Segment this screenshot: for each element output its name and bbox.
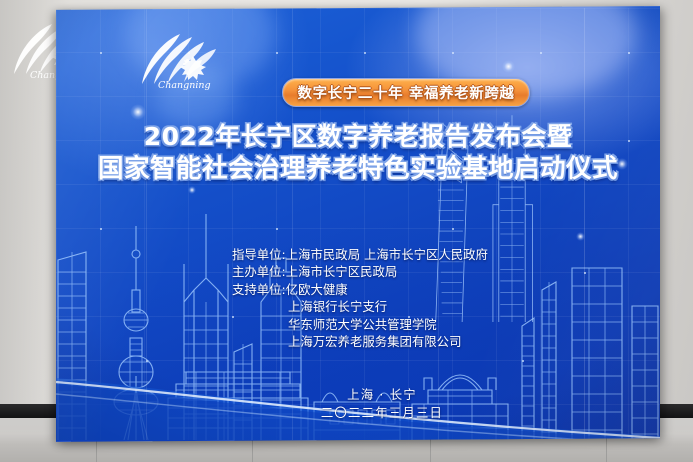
footer-block: 上海 · 长宁 二〇二二年三月三日 [232,386,532,422]
screenshot-stage: Changning [0,0,693,462]
title-line-1: 2022年长宁区数字养老报告发布会暨 [56,120,660,153]
organizer-block: 指导单位:上海市民政局 上海市长宁区人民政府 主办单位:上海市长宁区民政局 支持… [232,246,652,350]
svg-text:Changning: Changning [158,80,211,91]
slogan-badge: 数字长宁二十年 幸福养老新跨越 [282,78,530,107]
org-line-support-2: 上海银行长宁支行 [232,298,652,315]
org-line-support: 支持单位:亿欧大健康 [232,281,652,298]
footer-date: 二〇二二年三月三日 [232,404,532,422]
org-line-guidance: 指导单位:上海市民政局 上海市长宁区人民政府 [232,246,652,263]
org-line-host: 主办单位:上海市长宁区民政局 [232,263,652,280]
main-title: 2022年长宁区数字养老报告发布会暨 国家智能社会治理养老特色实验基地启动仪式 [56,120,660,186]
footer-location: 上海 · 长宁 [232,386,532,404]
org-line-support-4: 上海万宏养老服务集团有限公司 [232,333,652,350]
org-line-support-3: 华东师范大学公共管理学院 [232,316,652,333]
title-line-2: 国家智能社会治理养老特色实验基地启动仪式 [56,153,660,186]
slogan-badge-text: 数字长宁二十年 幸福养老新跨越 [297,82,514,103]
event-backdrop-banner: Changning 数字长宁二十年 幸福养老新跨越 2022年长宁区数字养老报告… [56,6,660,442]
changning-logo-banner: Changning [130,26,226,92]
